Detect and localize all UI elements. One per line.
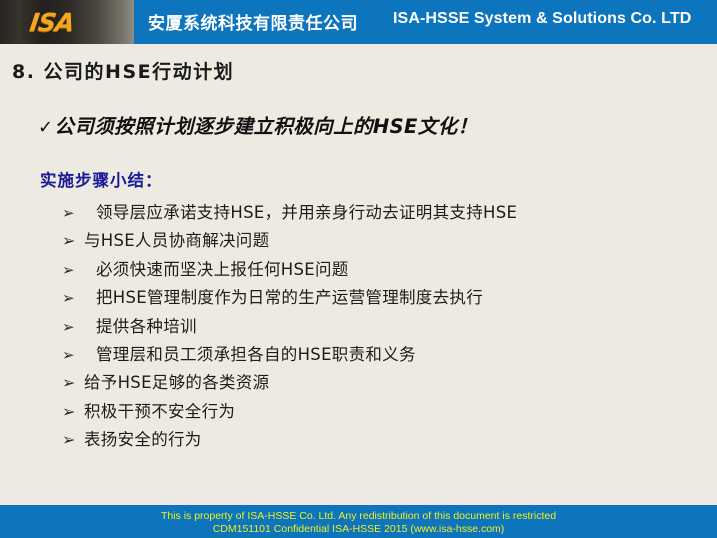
list-item-label: 领导层应承诺支持HSE，并用亲身行动去证明其支持HSE — [76, 199, 517, 223]
list-item-label: 积极干预不安全行为 — [76, 398, 235, 422]
list-item: ➢ 给予HSE足够的各类资源 — [62, 369, 682, 397]
list-item: ➢ 提供各种培训 — [62, 313, 682, 341]
list-item: ➢ 管理层和员工须承担各自的HSE职责和义务 — [62, 341, 682, 369]
list-item: ➢ 必须快速而坚决上报任何HSE问题 — [62, 256, 682, 284]
slide-header-bar: ISA 安厦系统科技有限责任公司 ISA-HSSE System & Solut… — [0, 0, 717, 44]
isa-logo-icon: ISA — [28, 8, 76, 37]
slide-footer-bar: This is property of ISA-HSSE Co. Ltd. An… — [0, 505, 717, 538]
logo-panel: ISA — [0, 0, 134, 44]
company-name-chinese: 安厦系统科技有限责任公司 — [148, 9, 358, 34]
footer-copyright-line: This is property of ISA-HSSE Co. Ltd. An… — [0, 510, 717, 522]
arrow-bullet-icon: ➢ — [62, 432, 76, 448]
list-item: ➢ 把HSE管理制度作为日常的生产运营管理制度去执行 — [62, 284, 682, 312]
list-item: ➢ 表扬安全的行为 — [62, 426, 682, 454]
list-item-label: 把HSE管理制度作为日常的生产运营管理制度去执行 — [76, 284, 483, 308]
list-item-label: 必须快速而坚决上报任何HSE问题 — [76, 256, 349, 280]
arrow-bullet-icon: ➢ — [62, 291, 76, 306]
page-title: 8. 公司的HSE行动计划 — [12, 57, 234, 84]
company-name-english: ISA-HSSE System & Solutions Co. LTD — [393, 10, 691, 28]
list-item: ➢ 积极干预不安全行为 — [62, 398, 682, 426]
section-subheading: 实施步骤小结： — [40, 167, 163, 191]
arrow-bullet-icon: ➢ — [62, 233, 76, 249]
list-item-label: 提供各种培训 — [76, 313, 197, 337]
presentation-slide: ISA 安厦系统科技有限责任公司 ISA-HSSE System & Solut… — [0, 0, 717, 538]
arrow-bullet-icon: ➢ — [62, 348, 76, 363]
list-item-label: 表扬安全的行为 — [76, 426, 202, 450]
arrow-bullet-icon: ➢ — [62, 263, 76, 278]
key-statement-text: 公司须按照计划逐步建立积极向上的HSE文化！ — [54, 115, 477, 138]
bullet-list: ➢ 领导层应承诺支持HSE，并用亲身行动去证明其支持HSE ➢ 与HSE人员协商… — [62, 199, 682, 455]
list-item-label: 管理层和员工须承担各自的HSE职责和义务 — [76, 341, 416, 365]
list-item-label: 给予HSE足够的各类资源 — [76, 369, 269, 393]
arrow-bullet-icon: ➢ — [62, 320, 76, 335]
list-item: ➢ 领导层应承诺支持HSE，并用亲身行动去证明其支持HSE — [62, 199, 682, 227]
arrow-bullet-icon: ➢ — [62, 404, 76, 420]
list-item-label: 与HSE人员协商解决问题 — [76, 227, 269, 251]
arrow-bullet-icon: ➢ — [62, 206, 76, 221]
key-statement: ✓公司须按照计划逐步建立积极向上的HSE文化！ — [38, 110, 477, 139]
arrow-bullet-icon: ➢ — [62, 375, 76, 391]
footer-document-line: CDM151101 Confidential ISA-HSSE 2015 (ww… — [0, 523, 717, 535]
check-icon: ✓ — [38, 117, 54, 138]
list-item: ➢ 与HSE人员协商解决问题 — [62, 227, 682, 255]
